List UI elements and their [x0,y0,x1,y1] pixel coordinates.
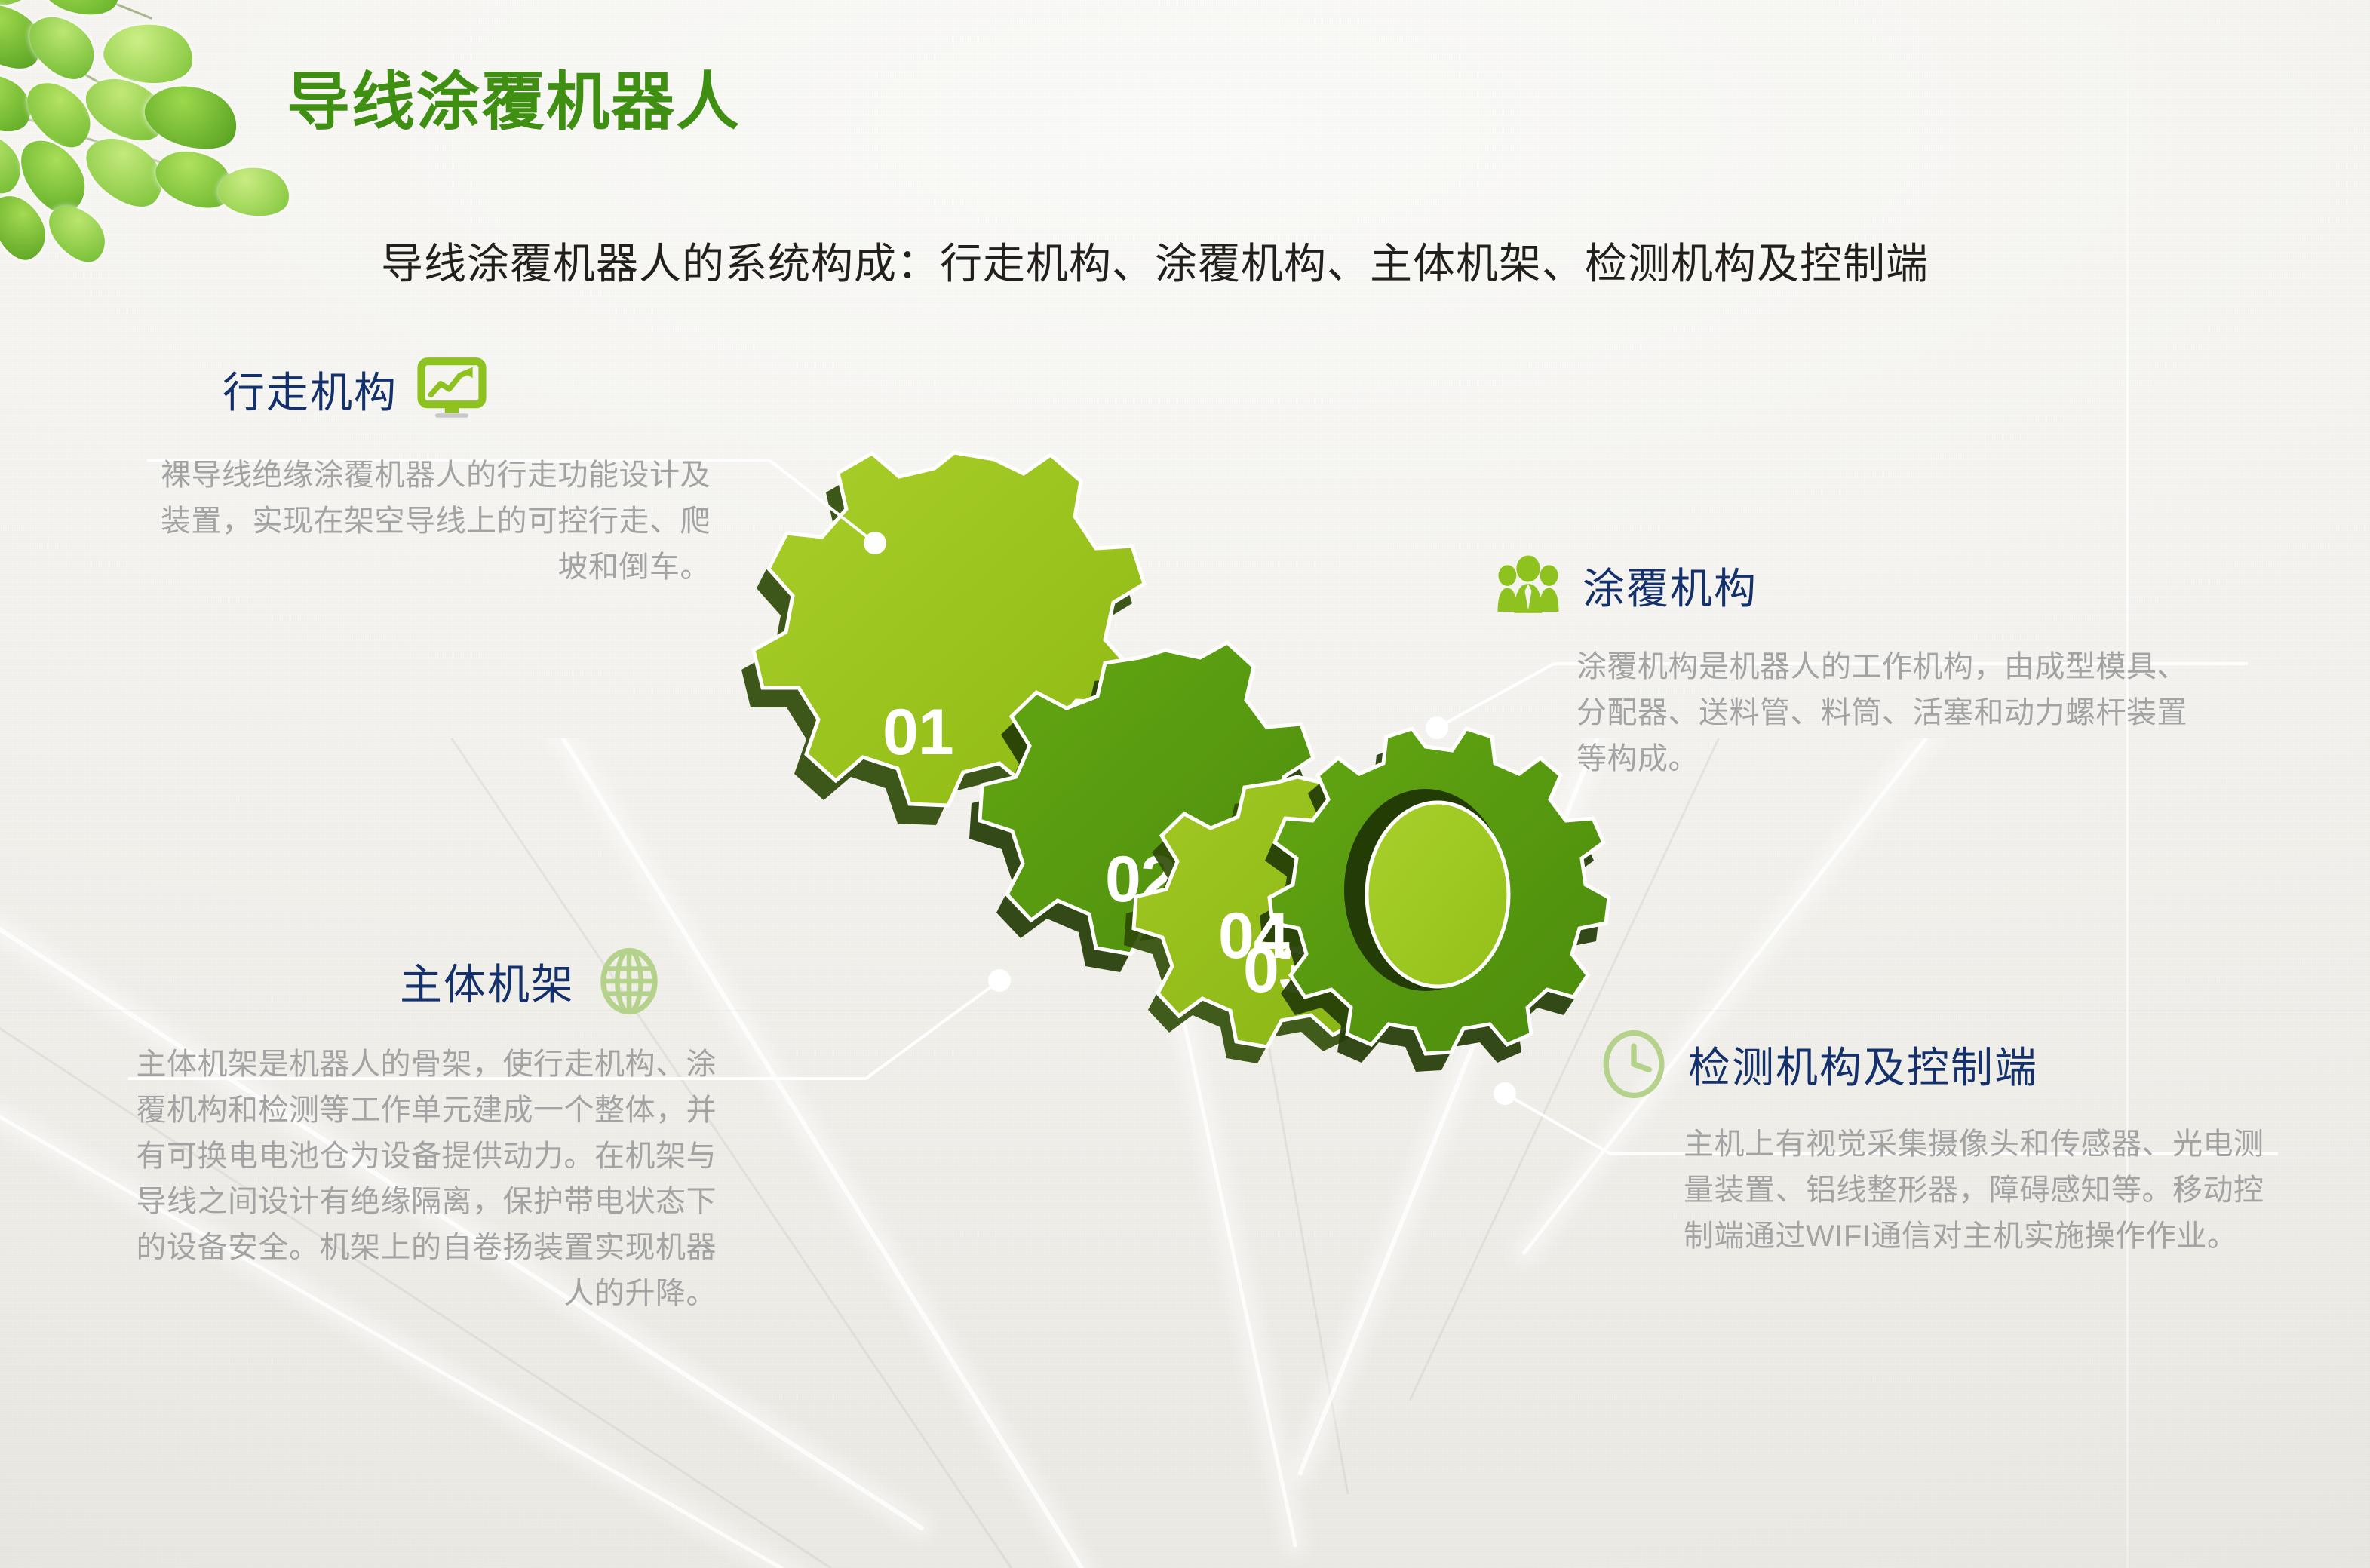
info-block-main-frame: 主体机架 主体机架是机器人的骨架，使行走机构、涂覆机构和检测等工作单元建成一个整… [113,947,724,1317]
globe-icon [594,947,664,1016]
gear-number-04: 04 [1218,900,1290,972]
page-title: 导线涂覆机器人 [287,51,741,143]
block-body: 涂覆机构是机器人的工作机构，由成型模具、分配器、送料管、料筒、活塞和动力螺杆装置… [1494,644,2203,781]
block-body: 裸导线绝缘涂覆机器人的行走功能设计及装置，实现在架空导线上的可控行走、爬坡和倒车… [143,453,717,590]
leaf-branch-decoration [0,0,294,256]
people-group-icon [1494,551,1563,620]
block-body: 主体机架是机器人的骨架，使行走机构、涂覆机构和检测等工作单元建成一个整体，并有可… [113,1042,724,1317]
block-header: 行走机构 [143,354,717,424]
page-subtitle: 导线涂覆机器人的系统构成：行走机构、涂覆机构、主体机架、检测机构及控制端 [381,230,1929,291]
info-block-coating-mechanism: 涂覆机构 涂覆机构是机器人的工作机构，由成型模具、分配器、送料管、料筒、活塞和动… [1494,551,2203,781]
clock-icon [1599,1029,1669,1099]
block-header: 涂覆机构 [1494,551,2203,620]
block-body: 主机上有视觉采集摄像头和传感器、光电测量装置、铝线整形器，障碍感知等。移动控制端… [1599,1122,2293,1259]
block-title: 主体机架 [400,951,575,1012]
gear-diagram: 01 02 03 04 [724,362,1659,1252]
block-title: 行走机构 [223,359,398,420]
monitor-chart-icon [417,354,487,424]
info-block-detection-and-control: 检测机构及控制端 主机上有视觉采集摄像头和传感器、光电测量装置、铝线整形器，障碍… [1599,1029,2293,1259]
info-block-walking-mechanism: 行走机构 裸导线绝缘涂覆机器人的行走功能设计及装置，实现在架空导线上的可控行走、… [143,354,717,590]
block-header: 主体机架 [113,947,724,1016]
block-title: 检测机构及控制端 [1688,1034,2038,1095]
gear-number-01: 01 [883,696,953,769]
block-header: 检测机构及控制端 [1599,1029,2293,1099]
block-title: 涂覆机构 [1583,555,1758,616]
